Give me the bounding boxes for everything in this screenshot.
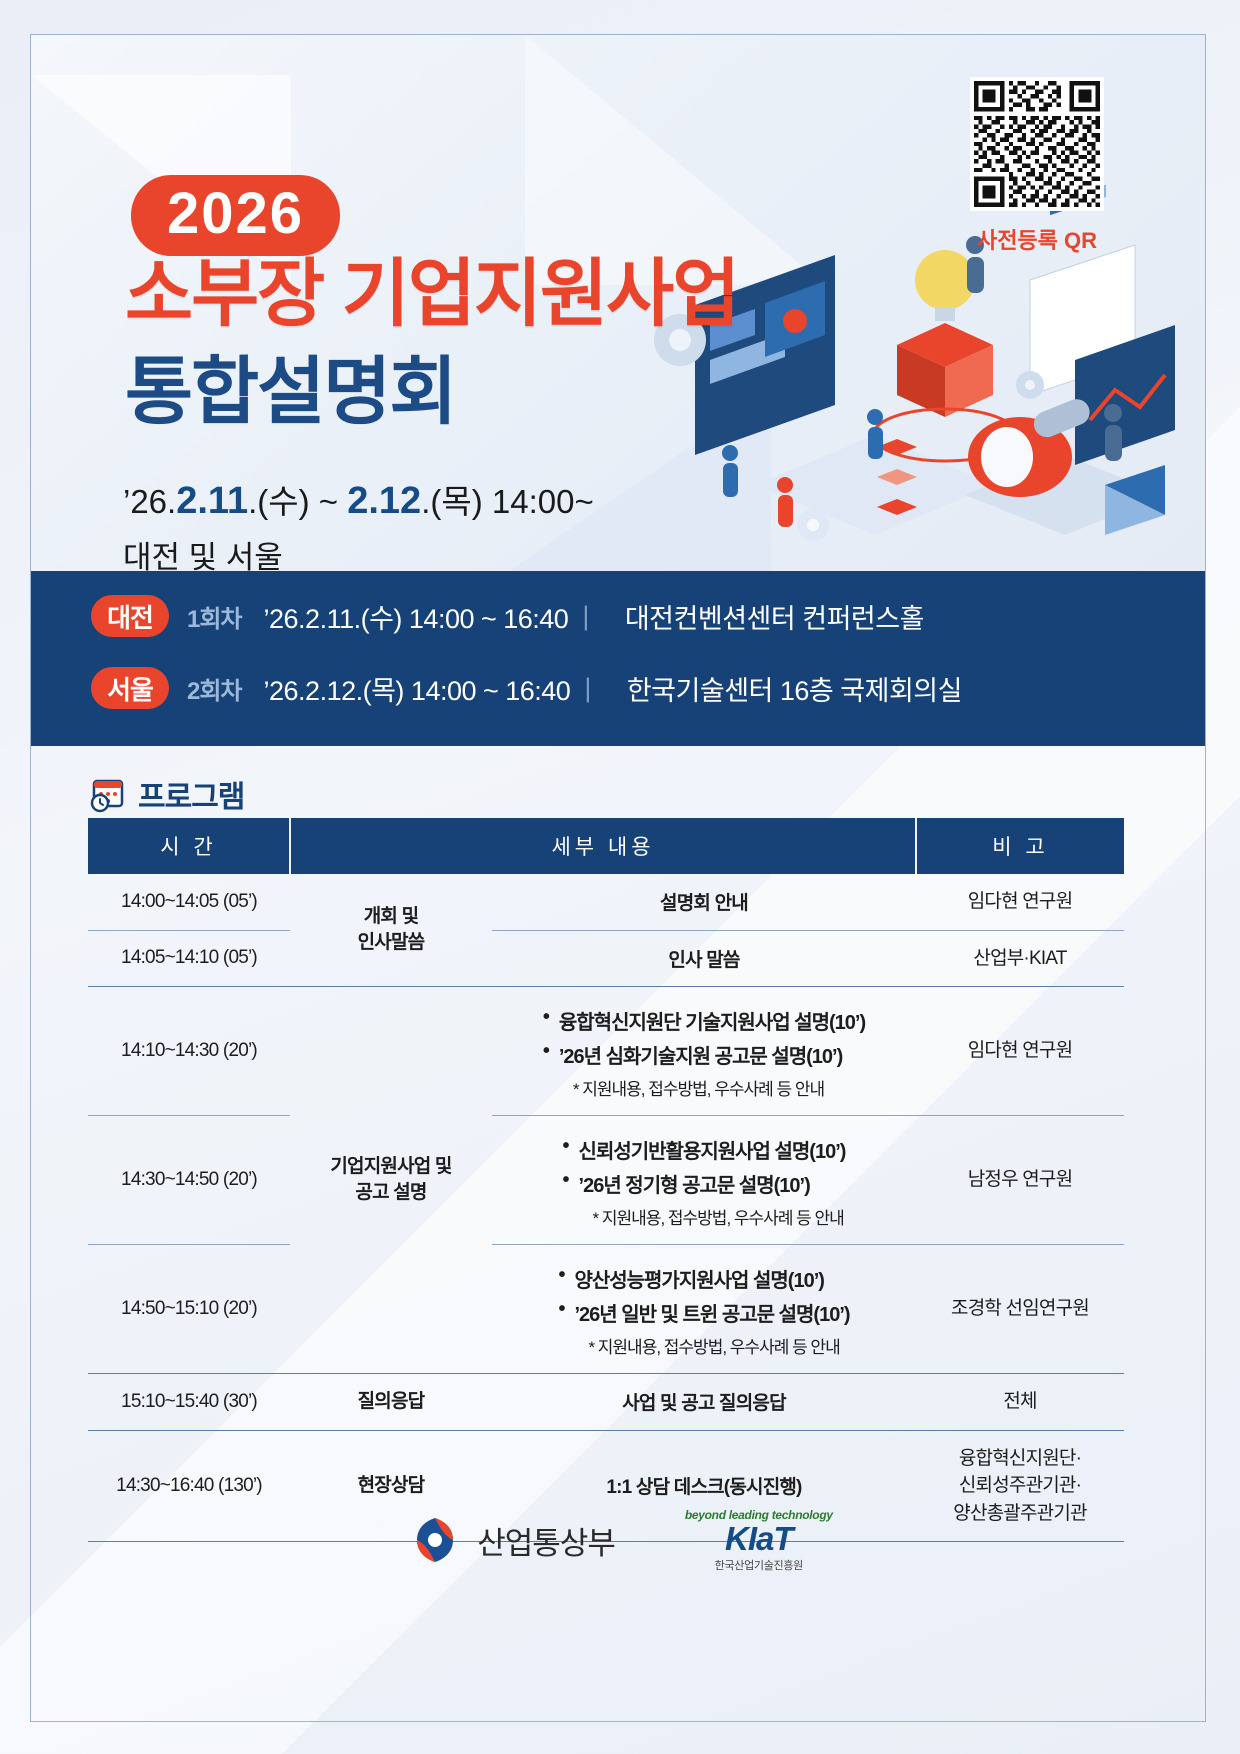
cell-detail-bullets: 융합혁신지원단 기술지원사업 설명(10’) ’26년 심화기술지원 공고문 설… bbox=[492, 987, 916, 1116]
qr-code-svg bbox=[974, 81, 1100, 207]
bullet-list: 신뢰성기반활용지원사업 설명(10’) ’26년 정기형 공고문 설명(10’)… bbox=[563, 1130, 846, 1229]
table-row: 14:50~15:10 (20’) 양산성능평가지원사업 설명(10’) ’26… bbox=[88, 1245, 1124, 1374]
kiat-logo-label: KIaT bbox=[685, 1522, 833, 1555]
cell-detail: 인사 말씀 bbox=[492, 930, 916, 987]
detail-note: * 지원내용, 접수방법, 우수사례 등 안내 bbox=[558, 1333, 849, 1358]
cell-category: 개회 및 인사말씀 bbox=[290, 874, 492, 987]
qr-label: 사전등록 QR bbox=[957, 223, 1117, 255]
poster-root: 사전등록 QR 2026 소부장 기업지원사업 통합설명회 ’26.2.11.(… bbox=[0, 0, 1240, 1754]
session-row-seoul: 서울 2회차 ’26.2.12.(목) 14:00 ~ 16:40 | 한국기술… bbox=[91, 667, 962, 709]
program-heading-label: 프로그램 bbox=[138, 772, 244, 816]
list-item: 융합혁신지원단 기술지원사업 설명(10’) bbox=[543, 1006, 865, 1035]
cell-remark: 산업부·KIAT bbox=[916, 930, 1124, 987]
program-header-row: 시 간 세부 내용 비 고 bbox=[88, 818, 1124, 874]
year-badge: 2026 bbox=[131, 175, 340, 256]
cell-time: 15:10~15:40 (30’) bbox=[88, 1374, 290, 1431]
cell-remark: 전체 bbox=[916, 1374, 1124, 1431]
list-item: ’26년 정기형 공고문 설명(10’) bbox=[563, 1169, 846, 1198]
event-dateline: ’26.2.11.(수) ~ 2.12.(목) 14:00~ bbox=[123, 475, 594, 523]
detail-note: * 지원내용, 접수방법, 우수사례 등 안내 bbox=[543, 1075, 865, 1100]
session-row-daejeon: 대전 1회차 ’26.2.11.(수) 14:00 ~ 16:40 | 대전컨벤… bbox=[91, 595, 924, 637]
detail-note: * 지원내용, 접수방법, 우수사례 등 안내 bbox=[563, 1204, 846, 1229]
session-separator-2: | bbox=[584, 673, 591, 704]
date-day1-suffix: .(수) ~ bbox=[248, 483, 347, 520]
program-heading-block: 프로그램 bbox=[88, 772, 244, 816]
cell-detail-bullets: 신뢰성기반활용지원사업 설명(10’) ’26년 정기형 공고문 설명(10’)… bbox=[492, 1116, 916, 1245]
poster-title-line2: 통합설명회 bbox=[125, 355, 455, 429]
cell-time: 14:10~14:30 (20’) bbox=[88, 987, 290, 1116]
cell-remark: 조경학 선임연구원 bbox=[916, 1245, 1124, 1374]
cell-remark: 임다현 연구원 bbox=[916, 874, 1124, 930]
motie-logo-label: 산업통상부 bbox=[477, 1518, 615, 1563]
motie-logo-block: 산업통상부 bbox=[407, 1512, 615, 1568]
list-item: ’26년 심화기술지원 공고문 설명(10’) bbox=[543, 1040, 865, 1069]
city-pill-seoul: 서울 bbox=[91, 667, 169, 709]
date-day1: 2.11 bbox=[176, 480, 248, 522]
cell-remark: 임다현 연구원 bbox=[916, 987, 1124, 1116]
kiat-logo-sublabel: 한국산업기술진흥원 bbox=[685, 1557, 833, 1573]
col-header-detail: 세부 내용 bbox=[290, 818, 916, 874]
table-row: 14:00~14:05 (05’) 개회 및 인사말씀 설명회 안내 임다현 연… bbox=[88, 874, 1124, 930]
cell-time: 14:05~14:10 (05’) bbox=[88, 930, 290, 987]
footer-logos: 산업통상부 beyond leading technology KIaT 한국산… bbox=[0, 1480, 1240, 1600]
cell-detail: 사업 및 공고 질의응답 bbox=[492, 1374, 916, 1431]
cell-detail: 설명회 안내 bbox=[492, 874, 916, 930]
date-day2: 2.12 bbox=[347, 480, 421, 522]
kiat-logo-block: beyond leading technology KIaT 한국산업기술진흥원 bbox=[685, 1508, 833, 1573]
qr-block: 사전등록 QR bbox=[957, 77, 1117, 255]
cell-remark: 남정우 연구원 bbox=[916, 1116, 1124, 1245]
list-item: 양산성능평가지원사업 설명(10’) bbox=[558, 1264, 849, 1293]
list-item: ’26년 일반 및 트윈 공고문 설명(10’) bbox=[558, 1298, 849, 1327]
list-item: 신뢰성기반활용지원사업 설명(10’) bbox=[563, 1135, 846, 1164]
col-header-time: 시 간 bbox=[88, 818, 290, 874]
cell-time: 14:00~14:05 (05’) bbox=[88, 874, 290, 930]
col-header-remark: 비 고 bbox=[916, 818, 1124, 874]
session-venue-1: 대전컨벤션센터 컨퍼런스홀 bbox=[625, 597, 924, 636]
session-separator-1: | bbox=[582, 601, 589, 632]
program-table-body: 14:00~14:05 (05’) 개회 및 인사말씀 설명회 안내 임다현 연… bbox=[88, 874, 1124, 1542]
bullet-list: 융합혁신지원단 기술지원사업 설명(10’) ’26년 심화기술지원 공고문 설… bbox=[543, 1001, 865, 1100]
motie-emblem-icon bbox=[407, 1512, 463, 1568]
cell-category: 기업지원사업 및 공고 설명 bbox=[290, 987, 492, 1374]
session-datetime-2: ’26.2.12.(목) 14:00 ~ 16:40 bbox=[264, 669, 571, 708]
session-number-1: 1회차 bbox=[187, 599, 242, 634]
program-table: 시 간 세부 내용 비 고 14:00~14:05 (05’) 개회 및 인사말… bbox=[88, 818, 1124, 1542]
hero-section: 사전등록 QR 2026 소부장 기업지원사업 통합설명회 ’26.2.11.(… bbox=[31, 35, 1205, 571]
calendar-clock-icon bbox=[88, 774, 128, 814]
table-row: 15:10~15:40 (30’) 질의응답 사업 및 공고 질의응답 전체 bbox=[88, 1374, 1124, 1431]
cell-detail-bullets: 양산성능평가지원사업 설명(10’) ’26년 일반 및 트윈 공고문 설명(1… bbox=[492, 1245, 916, 1374]
poster-title-line1: 소부장 기업지원사업 bbox=[125, 257, 738, 331]
program-table-head: 시 간 세부 내용 비 고 bbox=[88, 818, 1124, 874]
bullet-list: 양산성능평가지원사업 설명(10’) ’26년 일반 및 트윈 공고문 설명(1… bbox=[558, 1259, 849, 1358]
event-place-line: 대전 및 서울 bbox=[123, 532, 283, 571]
cell-time: 14:30~14:50 (20’) bbox=[88, 1116, 290, 1245]
session-venue-2: 한국기술센터 16층 국제회의실 bbox=[627, 669, 962, 708]
session-banner: 대전 1회차 ’26.2.11.(수) 14:00 ~ 16:40 | 대전컨벤… bbox=[31, 571, 1205, 746]
city-pill-daejeon: 대전 bbox=[91, 595, 169, 637]
date-prefix: ’26. bbox=[123, 483, 176, 520]
date-day2-suffix: .(목) 14:00~ bbox=[421, 483, 594, 520]
cell-category: 질의응답 bbox=[290, 1374, 492, 1431]
session-number-2: 2회차 bbox=[187, 671, 242, 706]
session-datetime-1: ’26.2.11.(수) 14:00 ~ 16:40 bbox=[264, 597, 569, 636]
cell-time: 14:50~15:10 (20’) bbox=[88, 1245, 290, 1374]
table-row: 14:05~14:10 (05’) 인사 말씀 산업부·KIAT bbox=[88, 930, 1124, 987]
qr-code-image[interactable] bbox=[970, 77, 1104, 211]
table-row: 14:10~14:30 (20’) 기업지원사업 및 공고 설명 융합혁신지원단… bbox=[88, 987, 1124, 1116]
table-row: 14:30~14:50 (20’) 신뢰성기반활용지원사업 설명(10’) ’2… bbox=[88, 1116, 1124, 1245]
